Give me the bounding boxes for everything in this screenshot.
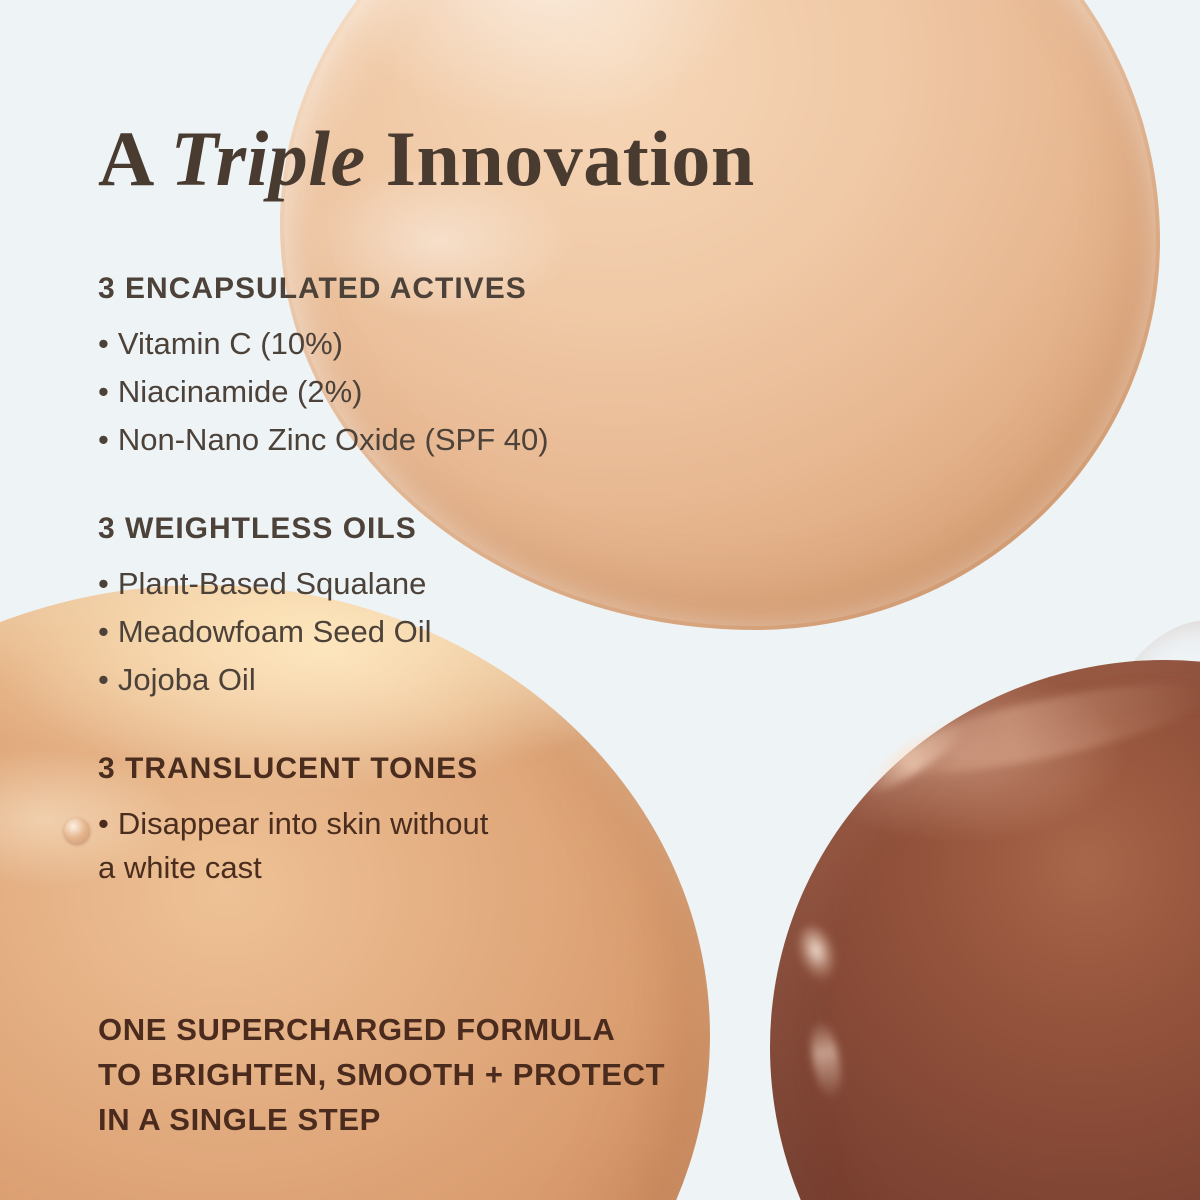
bullet-icon: • <box>98 658 109 702</box>
page-title: A Triple Innovation <box>98 120 755 198</box>
title-trail: Innovation <box>366 115 755 202</box>
list-item-label: Niacinamide (2%) <box>118 374 363 409</box>
bullet-icon: • <box>98 610 109 654</box>
bullet-list-tones: •Disappear into skin without a white cas… <box>98 802 488 890</box>
list-item-label: Meadowfoam Seed Oil <box>118 614 432 649</box>
bullet-icon: • <box>98 322 109 366</box>
bullet-icon: • <box>98 802 109 846</box>
product-infographic: A Triple Innovation 3 ENCAPSULATED ACTIV… <box>0 0 1200 1200</box>
list-item-label: Vitamin C (10%) <box>118 326 343 361</box>
list-item: •Jojoba Oil <box>98 658 431 702</box>
list-item: •Niacinamide (2%) <box>98 370 549 414</box>
list-item: •Disappear into skin without a white cas… <box>98 802 488 890</box>
section-heading-tones: 3 TRANSLUCENT TONES <box>98 752 488 786</box>
section-heading-actives: 3 ENCAPSULATED ACTIVES <box>98 272 549 306</box>
bullet-list-oils: •Plant-Based Squalane •Meadowfoam Seed O… <box>98 562 431 702</box>
section-translucent-tones: 3 TRANSLUCENT TONES •Disappear into skin… <box>98 752 488 894</box>
list-item: •Plant-Based Squalane <box>98 562 431 606</box>
infographic-content: A Triple Innovation 3 ENCAPSULATED ACTIV… <box>0 0 1200 1200</box>
title-lead: A <box>98 115 171 202</box>
list-item-label: Non-Nano Zinc Oxide (SPF 40) <box>118 422 549 457</box>
list-item: •Non-Nano Zinc Oxide (SPF 40) <box>98 418 549 462</box>
bullet-icon: • <box>98 370 109 414</box>
list-item-label: Disappear into skin without a white cast <box>98 806 488 885</box>
section-heading-oils: 3 WEIGHTLESS OILS <box>98 512 431 546</box>
bullet-list-actives: •Vitamin C (10%) •Niacinamide (2%) •Non-… <box>98 322 549 462</box>
list-item: •Meadowfoam Seed Oil <box>98 610 431 654</box>
title-emphasis: Triple <box>171 115 366 202</box>
list-item-label: Jojoba Oil <box>118 662 256 697</box>
list-item: •Vitamin C (10%) <box>98 322 549 366</box>
section-encapsulated-actives: 3 ENCAPSULATED ACTIVES •Vitamin C (10%) … <box>98 272 549 466</box>
bullet-icon: • <box>98 418 109 462</box>
list-item-label: Plant-Based Squalane <box>118 566 427 601</box>
bullet-icon: • <box>98 562 109 606</box>
section-weightless-oils: 3 WEIGHTLESS OILS •Plant-Based Squalane … <box>98 512 431 706</box>
closing-statement: ONE SUPERCHARGED FORMULA TO BRIGHTEN, SM… <box>98 1008 665 1143</box>
